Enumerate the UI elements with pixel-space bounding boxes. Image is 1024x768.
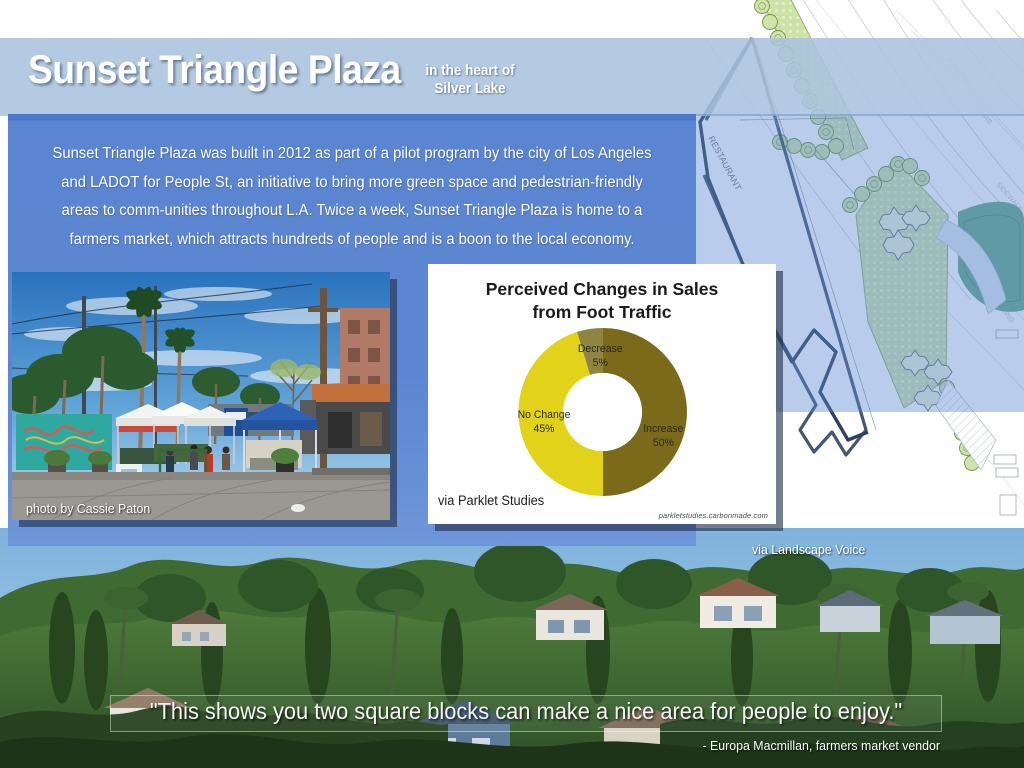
donut-label-decrease-name: Decrease — [566, 342, 634, 356]
donut-label-increase-value: 50% — [631, 436, 696, 450]
donut-label-no-change-name: No Change — [506, 408, 582, 422]
donut-label-increase-name: Increase — [631, 422, 696, 436]
donut-label-decrease-value: 5% — [566, 356, 634, 370]
page-subtitle-line1: in the heart of — [386, 62, 553, 80]
chart-title: Perceived Changes in Sales from Foot Tra… — [428, 278, 776, 325]
quote-attribution: - Europa Macmillan, farmers market vendo… — [703, 738, 940, 753]
donut-label-no-change: No Change 45% — [506, 408, 582, 436]
description-paragraph: Sunset Triangle Plaza was built in 2012 … — [46, 140, 657, 255]
farmers-market-photo: photo by Cassie Paton — [12, 272, 390, 520]
hillside-neighborhood-photo — [0, 528, 1024, 768]
donut-label-decrease: Decrease 5% — [566, 342, 634, 370]
quote-text: "This shows you two square blocks can ma… — [133, 698, 920, 726]
donut-label-no-change-value: 45% — [506, 422, 582, 436]
page-subtitle: in the heart of Silver Lake — [386, 62, 553, 98]
chart-source-credit: via Parklet Studies — [438, 493, 544, 508]
siteplan-photo-credit: via Landscape Voice — [752, 542, 865, 557]
slide-canvas: PLANTER CURB SIDEWALK STRIPE PARKING WAL… — [0, 0, 1024, 768]
donut-label-increase: Increase 50% — [631, 422, 696, 450]
chart-card: Perceived Changes in Sales from Foot Tra… — [428, 264, 776, 524]
page-subtitle-line2: Silver Lake — [386, 80, 553, 98]
chart-source-url: parkletstudies.carbonmade.com — [659, 511, 768, 520]
page-title: Sunset Triangle Plaza — [28, 48, 401, 93]
chart-title-line2: from Foot Traffic — [428, 301, 776, 324]
chart-title-line1: Perceived Changes in Sales — [428, 278, 776, 301]
market-photo-credit: photo by Cassie Paton — [26, 501, 150, 516]
